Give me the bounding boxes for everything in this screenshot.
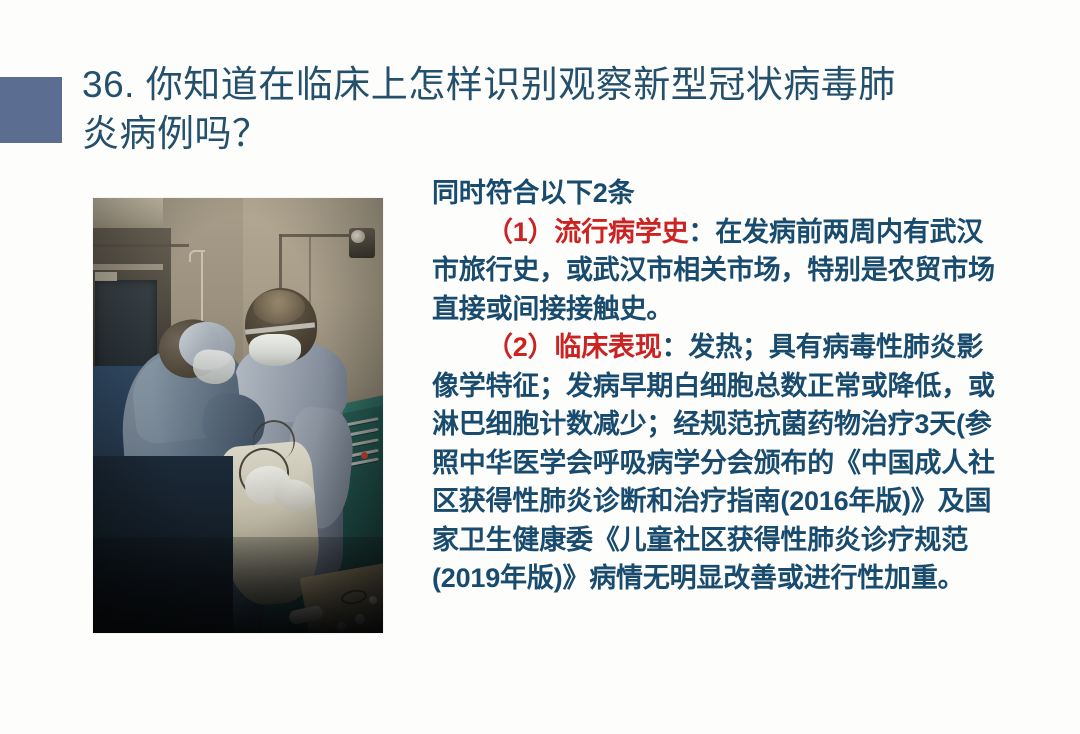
body-text-segment: 淋巴细胞计数减少；经规范抗菌药物治疗3天(参 [432, 409, 992, 439]
body-line: 照中华医学会呼吸病学分会颁布的《中国成人社 [432, 444, 1010, 483]
body-line: 像学特征；发病早期白细胞总数正常或降低，或 [432, 367, 1010, 406]
criteria-label: （1）流行病学史 [486, 217, 688, 247]
body-text-segment: 家卫生健康委《儿童社区获得性肺炎诊疗规范 [432, 525, 968, 555]
body-line: 市旅行史，或武汉市相关市场，特别是农贸市场 [432, 251, 1010, 290]
body-line: 区获得性肺炎诊断和治疗指南(2016年版)》及国 [432, 482, 1010, 521]
photo-wall-panel [95, 272, 117, 281]
body-text-segment: 照中华医学会呼吸病学分会颁布的《中国成人社 [432, 448, 995, 478]
photo-foreground-shadow [93, 537, 383, 633]
body-text-segment: 直接或间接接触史。 [432, 294, 673, 324]
accent-square-decoration [0, 77, 62, 143]
body-text-segment: ：在发病前两周内有武汉 [688, 217, 983, 247]
body-text-segment: 同时符合以下2条 [432, 178, 634, 208]
body-text-segment: 区获得性肺炎诊断和治疗指南(2016年版)》及国 [432, 486, 991, 516]
criteria-label: （2）临床表现 [486, 332, 662, 362]
body-line: （2）临床表现：发热；具有病毒性肺炎影 [432, 328, 1010, 367]
page-title: 36. 你知道在临床上怎样识别观察新型冠状病毒肺 炎病例吗？ [82, 60, 1002, 158]
body-text-segment: ：发热；具有病毒性肺炎影 [662, 332, 984, 362]
body-text-segment: 像学特征；发病早期白细胞总数正常或降低，或 [432, 371, 995, 401]
photo-door-frame [93, 264, 163, 270]
photo-surgeon-right-mask [249, 334, 301, 366]
body-line: 淋巴细胞计数减少；经规范抗菌药物治疗3天(参 [432, 405, 1010, 444]
body-line: (2019年版)》病情无明显改善或进行性加重。 [432, 559, 1010, 598]
surgery-photo [93, 198, 383, 633]
photo-surgeon-right-hair-highlight [253, 290, 305, 324]
clinical-criteria-text: 同时符合以下2条（1）流行病学史：在发病前两周内有武汉市旅行史，或武汉市相关市场… [432, 174, 1010, 598]
body-line: （1）流行病学史：在发病前两周内有武汉 [432, 213, 1010, 252]
body-text-segment: 市旅行史，或武汉市相关市场，特别是农贸市场 [432, 255, 995, 285]
body-text-segment: (2019年版)》病情无明显改善或进行性加重。 [432, 563, 964, 593]
body-line: 家卫生健康委《儿童社区获得性肺炎诊疗规范 [432, 521, 1010, 560]
surgery-photo-image [93, 198, 383, 633]
slide-root: 36. 你知道在临床上怎样识别观察新型冠状病毒肺 炎病例吗？ [0, 0, 1080, 734]
body-line: 直接或间接接触史。 [432, 290, 1010, 329]
body-line: 同时符合以下2条 [432, 174, 1010, 213]
photo-ceiling-rail-left [93, 244, 189, 247]
photo-instrument-marker [361, 452, 368, 459]
photo-wall-lamp-glass [351, 230, 365, 243]
